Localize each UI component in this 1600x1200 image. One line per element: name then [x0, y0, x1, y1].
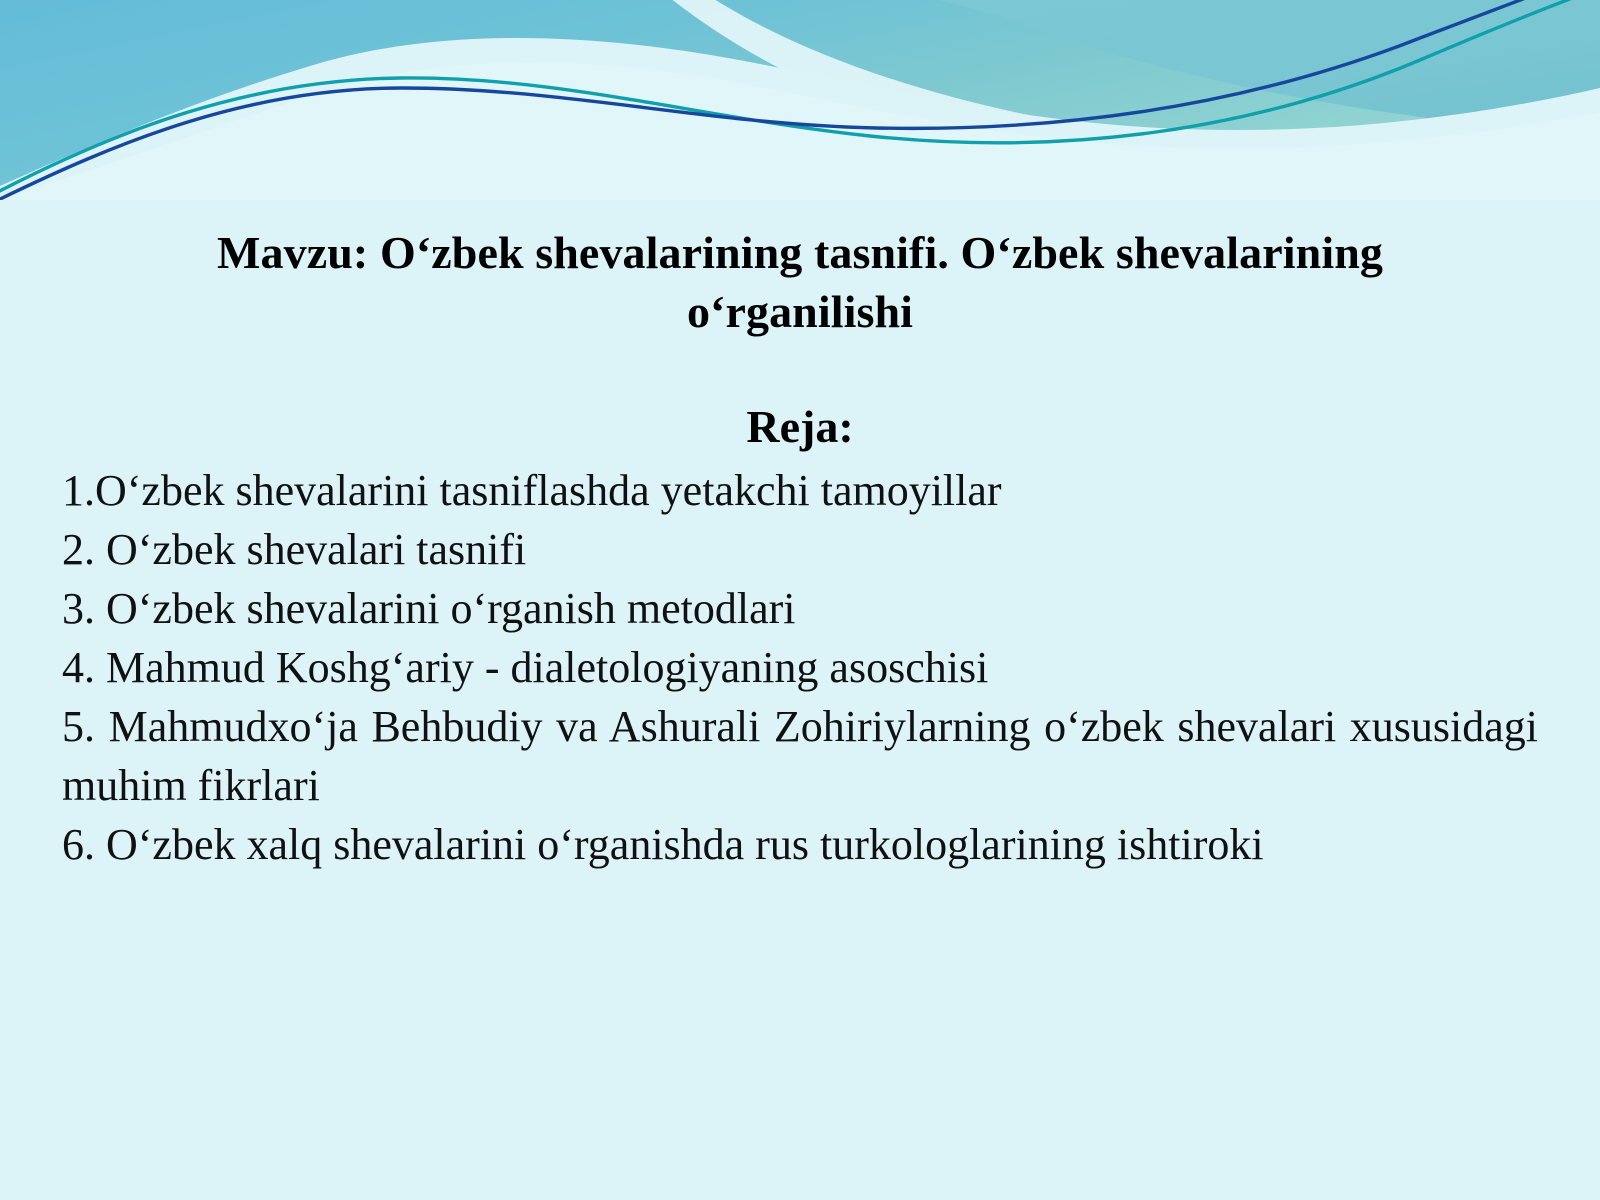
- list-item: 6. O‘zbek xalq shevalarini o‘rganishda r…: [62, 816, 1538, 875]
- presentation-slide: Mavzu: O‘zbek shevalarining tasnifi. O‘z…: [0, 0, 1600, 1200]
- list-item: 2. O‘zbek shevalari tasnifi: [62, 521, 1538, 580]
- reja-list: 1.O‘zbek shevalarini tasniflashda yetakc…: [62, 462, 1538, 875]
- list-item: 4. Mahmud Koshg‘ariy - dialetologiyaning…: [62, 639, 1538, 698]
- wave-banner-decoration: [0, 0, 1600, 200]
- list-item: 3. O‘zbek shevalarini o‘rganish metodlar…: [62, 580, 1538, 639]
- wave-banner-svg: [0, 0, 1600, 200]
- list-item: 5. Mahmudxo‘ja Behbudiy va Ashurali Zohi…: [62, 698, 1538, 816]
- list-item: 1.O‘zbek shevalarini tasniflashda yetakc…: [62, 462, 1538, 521]
- slide-content: Mavzu: O‘zbek shevalarining tasnifi. O‘z…: [0, 200, 1600, 1200]
- page-title: Mavzu: O‘zbek shevalarining tasnifi. O‘z…: [62, 224, 1538, 342]
- section-heading-reja: Reja:: [62, 402, 1538, 453]
